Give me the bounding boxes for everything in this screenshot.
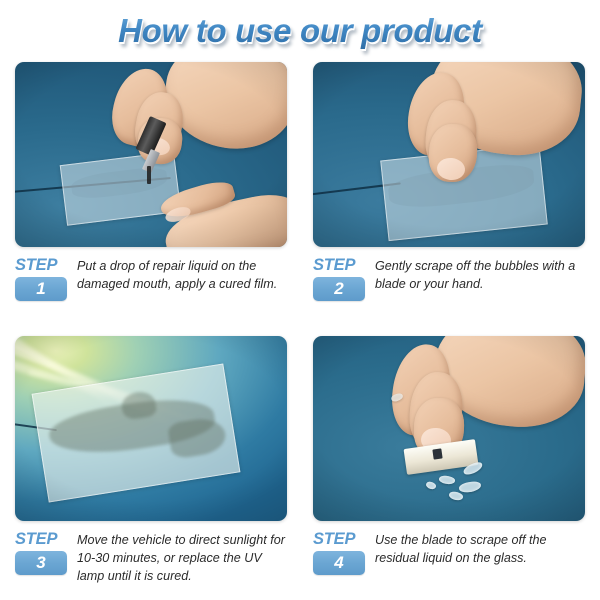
steps-grid: STEP 1 Put a drop of repair liquid on th…: [0, 0, 600, 600]
step-number-label: 2: [313, 277, 365, 301]
step-badge-2: STEP 2: [313, 256, 367, 301]
step-description: Put a drop of repair liquid on the damag…: [77, 256, 287, 293]
step-photo-4: [313, 336, 585, 521]
step-card-4: STEP 4 Use the blade to scrape off the r…: [313, 336, 585, 575]
step-photo-2: [313, 62, 585, 247]
step-photo-3: [15, 336, 287, 521]
step-card-2: STEP 2 Gently scrape off the bubbles wit…: [313, 62, 585, 301]
film-silhouette: [167, 415, 228, 459]
applicator-needle: [147, 166, 151, 184]
step-number-label: 4: [313, 551, 365, 575]
step-description: Gently scrape off the bubbles with a bla…: [375, 256, 585, 293]
step-word-label: STEP: [313, 257, 367, 274]
step-number-label: 3: [15, 551, 67, 575]
step-word-label: STEP: [15, 531, 69, 548]
step-description: Move the vehicle to direct sunlight for …: [77, 530, 287, 585]
step-card-1: STEP 1 Put a drop of repair liquid on th…: [15, 62, 287, 301]
step-description: Use the blade to scrape off the residual…: [375, 530, 585, 567]
step-word-label: STEP: [15, 257, 69, 274]
film-shade: [70, 165, 168, 201]
step-word-label: STEP: [313, 531, 367, 548]
step-badge-3: STEP 3: [15, 530, 69, 575]
step-badge-4: STEP 4: [313, 530, 367, 575]
step-caption-3: STEP 3 Move the vehicle to direct sunlig…: [15, 530, 287, 585]
blade-slot: [432, 448, 442, 459]
step-photo-1: [15, 62, 287, 247]
step-caption-2: STEP 2 Gently scrape off the bubbles wit…: [313, 256, 585, 301]
step-card-3: STEP 3 Move the vehicle to direct sunlig…: [15, 336, 287, 585]
step-caption-1: STEP 1 Put a drop of repair liquid on th…: [15, 256, 287, 301]
step-caption-4: STEP 4 Use the blade to scrape off the r…: [313, 530, 585, 575]
step-number-label: 1: [15, 277, 67, 301]
step-badge-1: STEP 1: [15, 256, 69, 301]
